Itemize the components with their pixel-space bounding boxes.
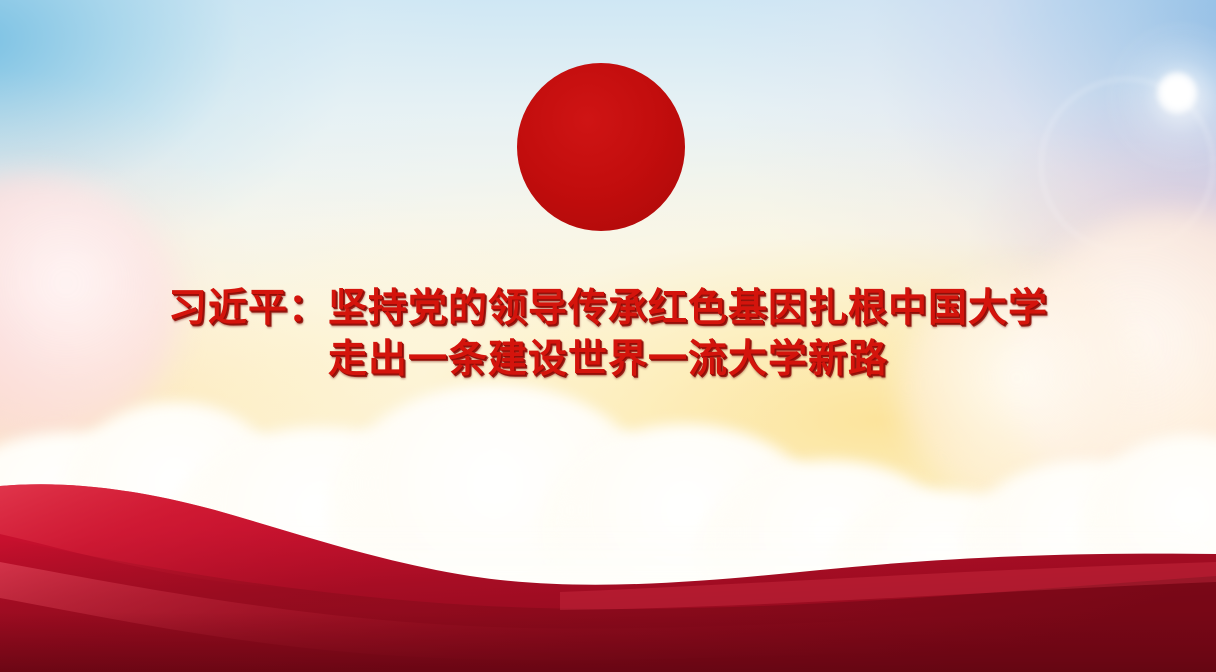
slide-title-line-2: 走出一条建设世界一流大学新路 <box>0 334 1216 385</box>
sun-flare-core-icon <box>1157 72 1197 114</box>
badge-circle-icon <box>517 63 685 231</box>
red-silk-ribbon <box>0 442 1216 672</box>
ribbon-bottom-shade <box>0 612 1216 672</box>
presentation-slide: 3 习近平：坚持党的领导传承红色基因扎根中国大学 走出一条建设世界一流大学新路 <box>0 0 1216 672</box>
slide-title: 习近平：坚持党的领导传承红色基因扎根中国大学 走出一条建设世界一流大学新路 <box>0 283 1216 385</box>
section-number-badge: 3 <box>517 63 685 231</box>
slide-title-line-1: 习近平：坚持党的领导传承红色基因扎根中国大学 <box>0 283 1216 334</box>
